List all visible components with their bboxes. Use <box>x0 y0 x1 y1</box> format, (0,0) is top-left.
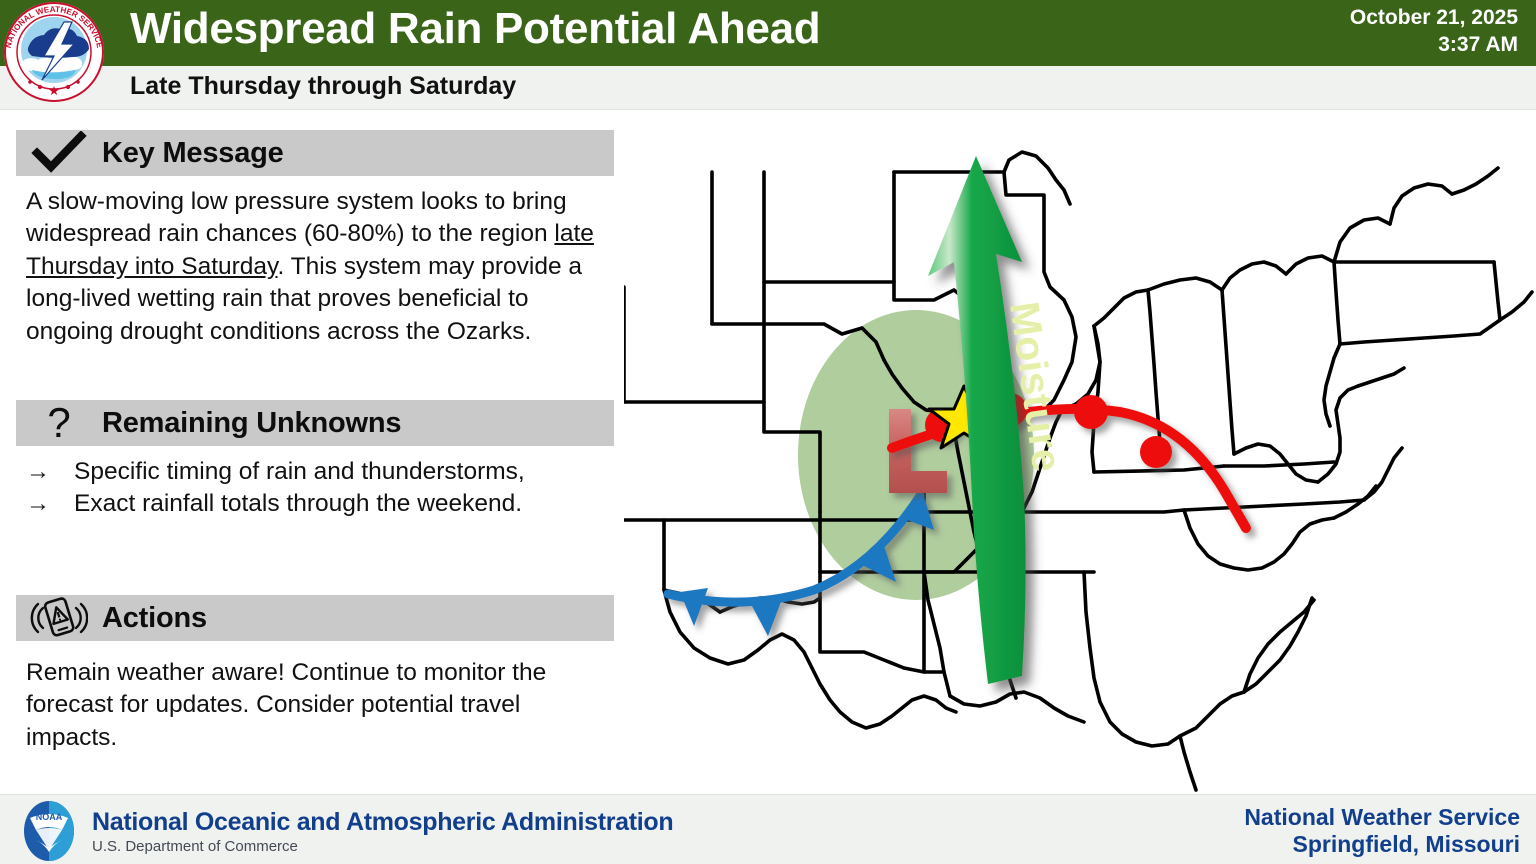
svg-text:?: ? <box>47 401 70 445</box>
noaa-title: National Oceanic and Atmospheric Adminis… <box>92 808 673 837</box>
state-borders <box>624 152 1532 790</box>
section-header-actions: Actions <box>16 595 614 641</box>
section-title-key-message: Key Message <box>102 137 284 170</box>
question-mark-icon: ? <box>16 400 102 446</box>
office-line-2: Springfield, Missouri <box>1244 831 1520 858</box>
page-title: Widespread Rain Potential Ahead <box>130 4 820 54</box>
checkmark-icon <box>16 130 102 176</box>
header-datetime: October 21, 2025 3:37 AM <box>1350 4 1518 58</box>
actions-text: Remain weather aware! Continue to monito… <box>26 657 614 754</box>
left-content-panel: Key Message A slow-moving low pressure s… <box>0 112 630 792</box>
weather-map: L Moisture <box>624 112 1536 794</box>
noaa-logo: NOAA <box>18 800 80 862</box>
nws-logo: NATIONAL WEATHER SERVICE <box>2 0 106 104</box>
header-date: October 21, 2025 <box>1350 4 1518 31</box>
header-time: 3:37 AM <box>1350 31 1518 58</box>
list-item-label: Exact rainfall totals through the weeken… <box>74 488 522 520</box>
office-line-1: National Weather Service <box>1244 804 1520 831</box>
arrow-bullet-icon: → <box>26 456 74 488</box>
page-subtitle: Late Thursday through Saturday <box>130 72 516 101</box>
key-message-text: A slow-moving low pressure system looks … <box>26 186 614 348</box>
remaining-unknowns-list: → Specific timing of rain and thundersto… <box>26 456 614 520</box>
nws-office-credit: National Weather Service Springfield, Mi… <box>1244 804 1520 858</box>
section-header-remaining-unknowns: ? Remaining Unknowns <box>16 400 614 446</box>
list-item: → Specific timing of rain and thundersto… <box>26 456 614 488</box>
map-graphic: L Moisture <box>624 112 1536 794</box>
section-header-key-message: Key Message <box>16 130 614 176</box>
section-title-remaining-unknowns: Remaining Unknowns <box>102 407 401 440</box>
key-message-text-before: A slow-moving low pressure system looks … <box>26 188 567 247</box>
noaa-subtitle: U.S. Department of Commerce <box>92 838 298 855</box>
phone-alert-icon <box>16 595 102 641</box>
list-item: → Exact rainfall totals through the week… <box>26 488 614 520</box>
svg-text:NOAA: NOAA <box>36 812 63 822</box>
list-item-label: Specific timing of rain and thunderstorm… <box>74 456 525 488</box>
section-title-actions: Actions <box>102 602 207 635</box>
weather-graphic-page: NATIONAL WEATHER SERVICE Widespread Rain… <box>0 0 1536 864</box>
arrow-bullet-icon: → <box>26 488 74 520</box>
